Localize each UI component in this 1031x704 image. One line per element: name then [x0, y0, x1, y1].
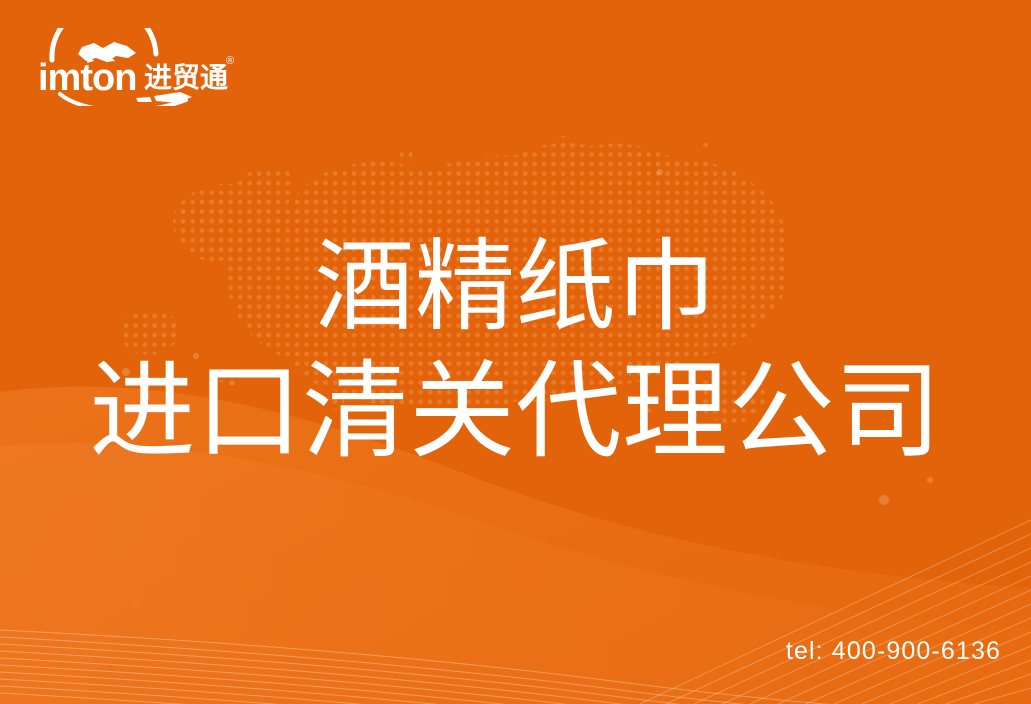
page-title: 酒精纸巾 进口清关代理公司 — [0, 228, 1031, 475]
promo-banner: imton 进贸通 ® 酒精纸巾 进口清关代理公司 tel: 400-900-6… — [0, 0, 1031, 704]
headline-line-1: 酒精纸巾 — [0, 228, 1031, 346]
headline-line-2: 进口清关代理公司 — [0, 350, 1031, 475]
contact-phone[interactable]: tel: 400-900-6136 — [786, 637, 1001, 666]
registered-mark: ® — [226, 55, 234, 67]
logo-wordmark-chinese: 进贸通 — [144, 62, 228, 93]
svg-text:进贸通: 进贸通 — [144, 62, 228, 93]
logo-wordmark-latin: imton — [38, 57, 136, 99]
svg-text:imton: imton — [38, 57, 136, 99]
company-logo[interactable]: imton 进贸通 ® — [36, 28, 246, 106]
